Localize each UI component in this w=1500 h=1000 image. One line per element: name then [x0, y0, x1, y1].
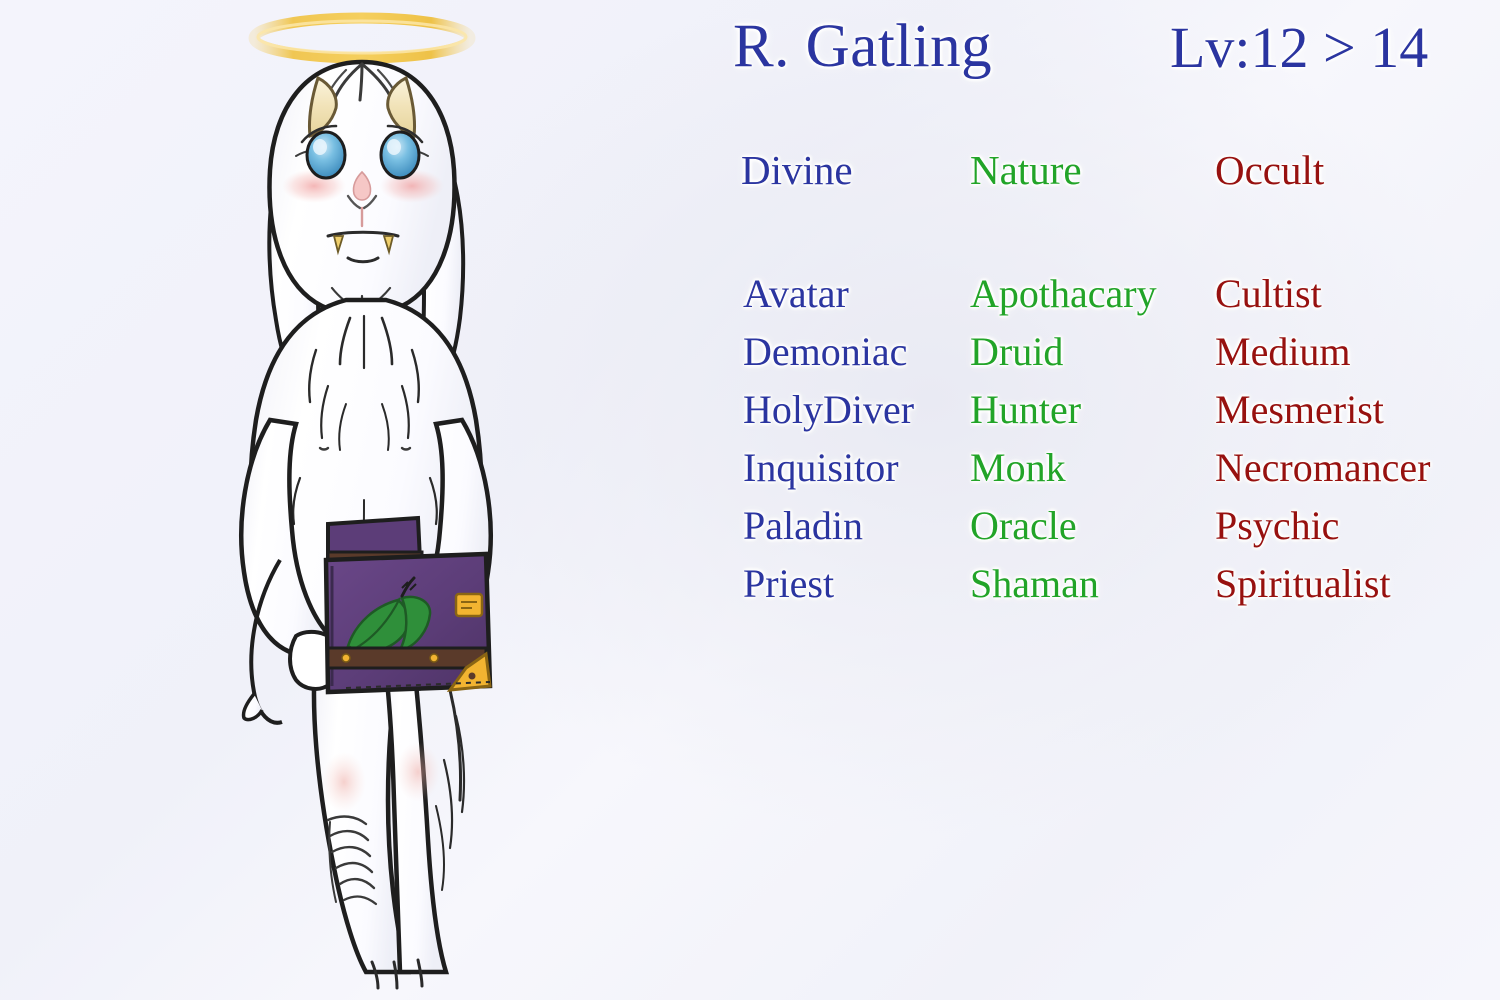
class-item[interactable]: Hunter: [970, 381, 1205, 439]
class-item[interactable]: Demoniac: [743, 323, 963, 381]
stat-panel: R. Gatling Lv:12 > 14 Divine Nature Occu…: [715, 0, 1500, 1000]
class-item[interactable]: Cultist: [1215, 265, 1500, 323]
class-item[interactable]: Paladin: [743, 497, 963, 555]
creature-figure: [241, 18, 490, 988]
character-name: R. Gatling: [733, 12, 992, 82]
class-item[interactable]: Shaman: [970, 555, 1205, 613]
class-item[interactable]: Inquisitor: [743, 439, 963, 497]
class-item[interactable]: Necromancer: [1215, 439, 1500, 497]
class-column-divine: Avatar Demoniac HolyDiver Inquisitor Pal…: [743, 265, 963, 613]
header-row: R. Gatling Lv:12 > 14: [715, 12, 1500, 98]
class-item[interactable]: Priest: [743, 555, 963, 613]
school-header-row: Divine Nature Occult: [715, 146, 1500, 204]
class-item[interactable]: Monk: [970, 439, 1205, 497]
class-item[interactable]: Druid: [970, 323, 1205, 381]
halo-icon: [254, 18, 470, 58]
class-item[interactable]: Avatar: [743, 265, 963, 323]
class-item[interactable]: Medium: [1215, 323, 1500, 381]
class-column-occult: Cultist Medium Mesmerist Necromancer Psy…: [1215, 265, 1500, 613]
class-item[interactable]: Spiritualist: [1215, 555, 1500, 613]
class-column-nature: Apothacary Druid Hunter Monk Oracle Sham…: [970, 265, 1205, 613]
head: [269, 62, 454, 314]
character-level: Lv:12 > 14: [1170, 14, 1428, 81]
school-label-occult: Occult: [1215, 146, 1324, 194]
class-item[interactable]: Apothacary: [970, 265, 1205, 323]
class-item[interactable]: Psychic: [1215, 497, 1500, 555]
class-item[interactable]: Mesmerist: [1215, 381, 1500, 439]
class-item[interactable]: Oracle: [970, 497, 1205, 555]
school-label-nature: Nature: [970, 146, 1082, 194]
character-sheet: R. Gatling Lv:12 > 14 Divine Nature Occu…: [0, 0, 1500, 1000]
class-item[interactable]: HolyDiver: [743, 381, 963, 439]
school-label-divine: Divine: [741, 146, 853, 194]
character-artwork: [150, 0, 750, 1000]
